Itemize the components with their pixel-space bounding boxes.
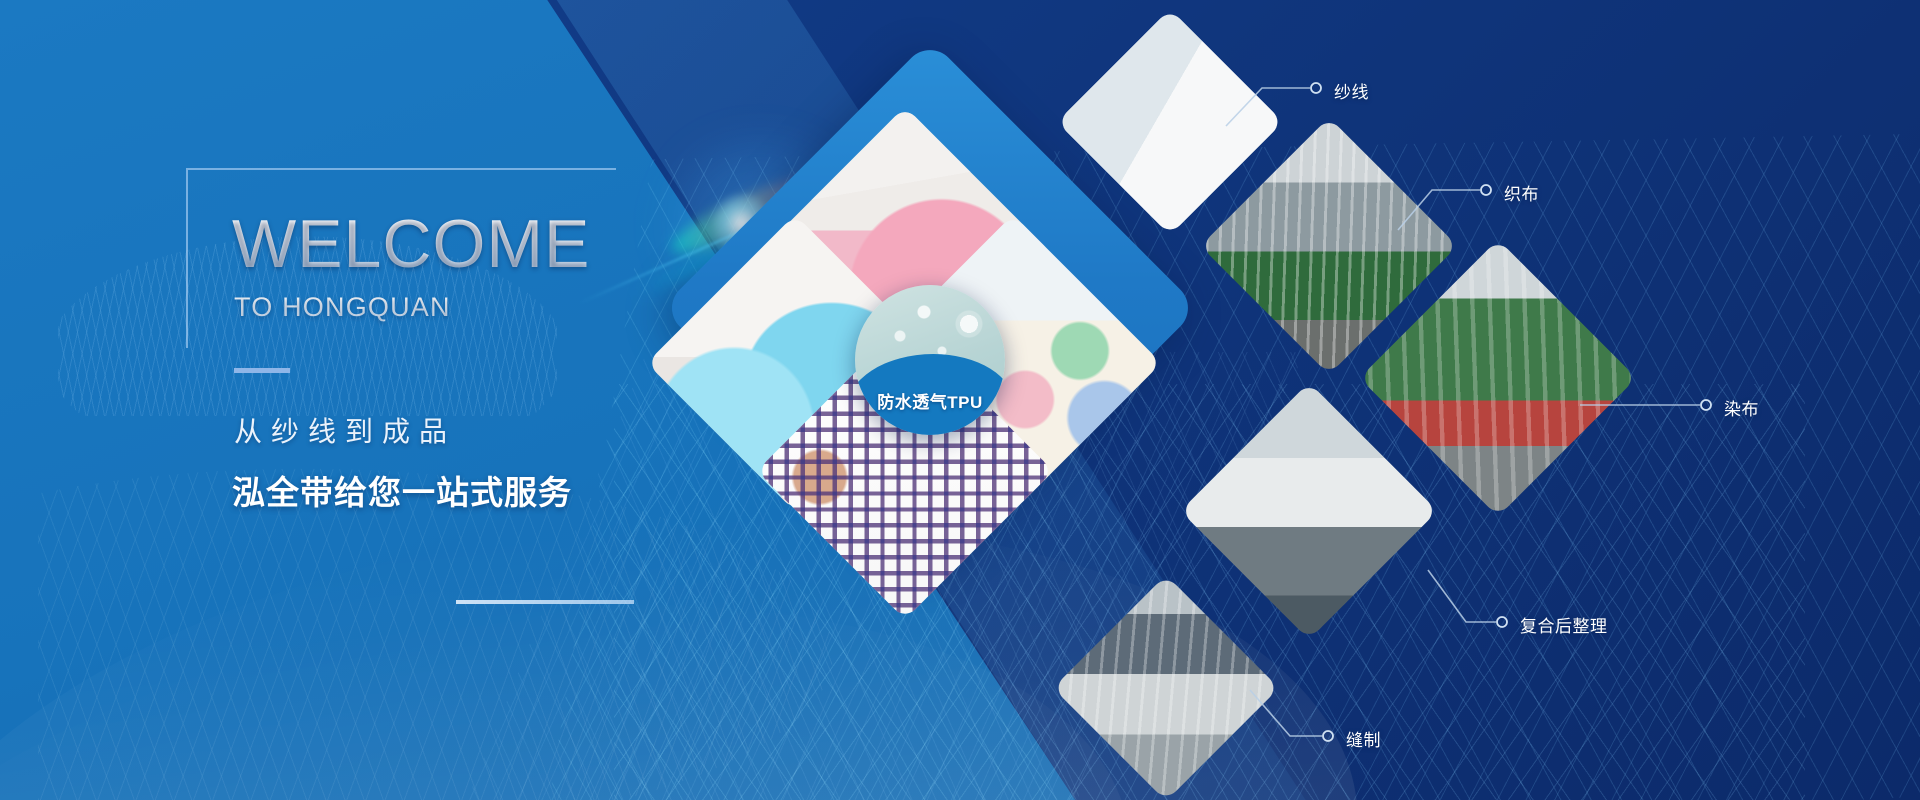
slogan: 泓全带给您一站式服务 bbox=[232, 466, 572, 514]
process-label-dyeing: 染布 bbox=[1724, 395, 1759, 420]
status-badge[interactable]: 防水透气TPU bbox=[855, 285, 1005, 435]
tagline: 从纱线到成品 bbox=[234, 410, 456, 450]
process-label-yarn: 纱线 bbox=[1334, 78, 1369, 103]
accent-rule bbox=[234, 368, 290, 373]
hero-banner: WELCOME TO HONGQUAN 从纱线到成品 泓全带给您一站式服务 防水… bbox=[0, 0, 1920, 800]
page-title: WELCOME bbox=[232, 210, 590, 278]
bottom-divider-rule bbox=[456, 600, 634, 604]
badge-label: 防水透气TPU bbox=[855, 388, 1005, 413]
process-label-weaving: 织布 bbox=[1504, 180, 1539, 205]
process-label-laminating: 复合后整理 bbox=[1520, 612, 1608, 637]
process-label-sewing: 缝制 bbox=[1346, 726, 1381, 751]
page-subtitle: TO HONGQUAN bbox=[234, 292, 451, 323]
